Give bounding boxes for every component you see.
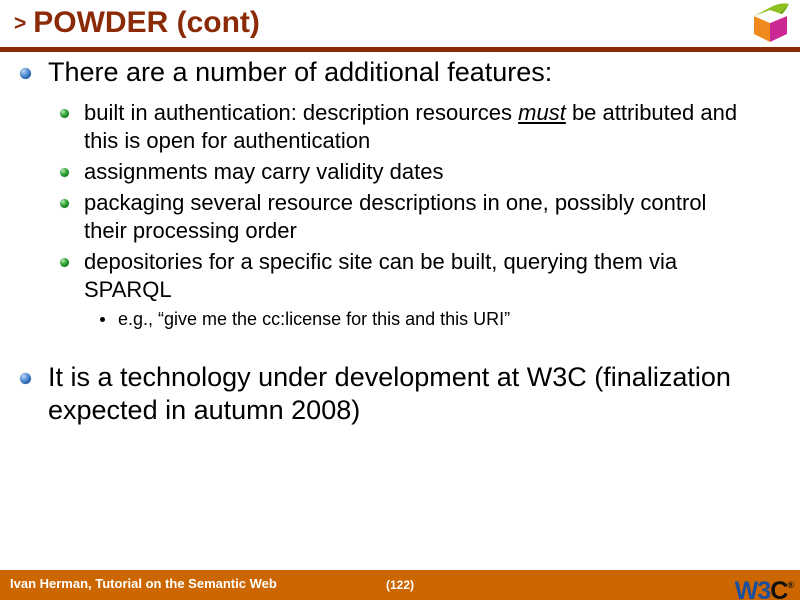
bullet-sphere-green-icon	[60, 109, 69, 118]
spacer	[0, 91, 800, 99]
bullet-dot-icon	[100, 317, 105, 322]
list-item: It is a technology under development at …	[0, 361, 800, 427]
list-item: e.g., “give me the cc:license for this a…	[0, 307, 800, 332]
title-chevron-marker: >	[14, 12, 26, 35]
list-item-label-prefix: built in authentication: description res…	[84, 100, 518, 125]
slide-content: There are a number of additional feature…	[0, 56, 800, 556]
bullet-sphere-green-icon	[60, 258, 69, 267]
bullet-sphere-blue-icon	[20, 373, 31, 384]
list-item: assignments may carry validity dates	[0, 158, 800, 186]
title-text: POWDER (cont)	[33, 6, 260, 39]
w3c-logo-w3: W3	[735, 577, 771, 605]
list-item-label: assignments may carry validity dates	[84, 159, 443, 184]
list-item: depositories for a specific site can be …	[0, 248, 800, 304]
header-divider-rule	[0, 47, 800, 52]
w3c-logo: W3C®	[735, 572, 794, 598]
list-item: There are a number of additional feature…	[0, 56, 800, 89]
page-title: >POWDER (cont)	[14, 6, 260, 40]
list-item-label: There are a number of additional feature…	[48, 57, 552, 87]
bullet-sphere-green-icon	[60, 168, 69, 177]
bullet-sphere-green-icon	[60, 199, 69, 208]
slide-footer: Ivan Herman, Tutorial on the Semantic We…	[0, 570, 800, 600]
slide-header: >POWDER (cont)	[0, 0, 800, 52]
list-item-label: packaging several resource descriptions …	[84, 190, 706, 243]
page-number: (122)	[0, 578, 800, 592]
spacer	[0, 335, 800, 361]
list-item-label: It is a technology under development at …	[48, 362, 731, 425]
w3c-logo-c: C	[770, 577, 787, 605]
list-item-label: e.g., “give me the cc:license for this a…	[118, 309, 510, 329]
list-item: packaging several resource descriptions …	[0, 189, 800, 245]
bullet-sphere-blue-icon	[20, 68, 31, 79]
list-item-label: depositories for a specific site can be …	[84, 249, 677, 302]
emphasis-must: must	[518, 100, 566, 125]
cube-logo	[748, 1, 794, 44]
registered-trademark-icon: ®	[787, 580, 794, 590]
list-item: built in authentication: description res…	[0, 99, 800, 155]
